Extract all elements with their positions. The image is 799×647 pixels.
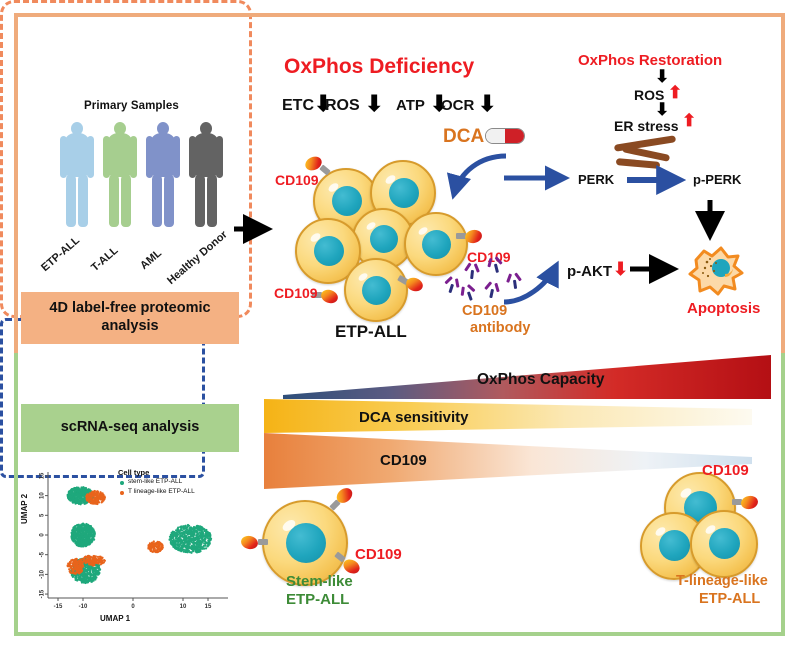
perk-label: PERK bbox=[578, 172, 614, 187]
arrow-dca-to-cells bbox=[440, 148, 570, 218]
svg-text:15: 15 bbox=[205, 604, 212, 610]
etpall-cell bbox=[344, 258, 408, 322]
p-perk-label: p-PERK bbox=[693, 172, 741, 187]
etpall-cell bbox=[404, 212, 468, 276]
scrna-analysis-box: scRNA-seq analysis bbox=[21, 404, 239, 452]
person-aml bbox=[146, 122, 180, 227]
arrow-perk-to-pperk bbox=[625, 173, 691, 187]
umap-x-axis-title: UMAP 1 bbox=[100, 614, 130, 623]
arrow-restoration-to-apoptosis bbox=[700, 198, 722, 246]
umap-legend-dot bbox=[120, 491, 124, 495]
umap-legend-dot bbox=[120, 481, 124, 485]
cd109-label: CD109 bbox=[274, 285, 318, 301]
er-stress-label: ER stress bbox=[614, 118, 679, 134]
marker-etc-label: ETC bbox=[282, 97, 314, 115]
svg-text:-15: -15 bbox=[54, 604, 63, 610]
arrow-antibody-to-pakt bbox=[500, 250, 570, 310]
arrow-samples-to-cells bbox=[232, 218, 278, 240]
svg-text:0: 0 bbox=[131, 604, 135, 610]
svg-text:5: 5 bbox=[40, 513, 46, 517]
oxphos-capacity-bar-label: OxPhos Capacity bbox=[477, 371, 605, 389]
arrow-down-to-erstress-icon: ⬇ bbox=[655, 101, 669, 118]
arrow-down-ros-icon: ⬇ bbox=[365, 93, 383, 115]
person-t-all bbox=[103, 122, 137, 227]
cd109-label: CD109 bbox=[355, 546, 402, 563]
umap-scatter-plot: -15-10-5051015-15-1001015 UMAP 2 UMAP 1 … bbox=[22, 462, 237, 632]
etpall-cluster-label: ETP-ALL bbox=[335, 322, 407, 342]
cd109-label: CD109 bbox=[702, 462, 749, 479]
svg-text:10: 10 bbox=[40, 492, 46, 499]
t-lineage-label: ETP-ALL bbox=[699, 591, 760, 607]
dca-sensitivity-bar-label: DCA sensitivity bbox=[359, 409, 468, 426]
dca-pill-icon bbox=[485, 128, 525, 144]
primary-samples-title: Primary Samples bbox=[84, 100, 179, 112]
arrow-up-erstress-icon: ⬆ bbox=[682, 112, 696, 129]
svg-text:-5: -5 bbox=[40, 551, 46, 557]
arrow-pakt-to-apoptosis bbox=[628, 258, 686, 280]
cd109-label: CD109 bbox=[275, 172, 319, 188]
oxphos-deficiency-title: OxPhos Deficiency bbox=[284, 55, 474, 79]
person-healthy-donor bbox=[189, 122, 223, 227]
svg-text:15: 15 bbox=[40, 472, 46, 479]
stem-like-label: ETP-ALL bbox=[286, 591, 349, 608]
umap-legend-label: T lineage-like ETP-ALL bbox=[128, 488, 195, 495]
umap-legend-label: stem-like ETP-ALL bbox=[128, 478, 182, 485]
umap-y-axis-title: UMAP 2 bbox=[20, 494, 29, 524]
graphical-abstract: Primary Samples ETP-ALL T-ALL AML Health… bbox=[0, 0, 799, 647]
apoptosis-label: Apoptosis bbox=[687, 300, 760, 317]
svg-text:-10: -10 bbox=[40, 569, 46, 578]
svg-text:-10: -10 bbox=[79, 604, 88, 610]
proteomic-analysis-box: 4D label-free proteomic analysis bbox=[21, 292, 239, 344]
svg-text:10: 10 bbox=[180, 604, 187, 610]
p-akt-label: p-AKT bbox=[567, 263, 612, 280]
t-lineage-label: T-lineage-like bbox=[676, 573, 768, 589]
cd109-level-bar-label: CD109 bbox=[380, 452, 427, 469]
cd109-antibody-label: antibody bbox=[470, 320, 530, 336]
dca-sensitivity-bar bbox=[264, 399, 752, 433]
arrow-up-ros-icon: ⬆ bbox=[668, 84, 682, 101]
marker-ros-label: ROS bbox=[325, 97, 360, 115]
svg-text:-15: -15 bbox=[40, 589, 46, 598]
umap-legend-title: Cell type bbox=[118, 468, 149, 477]
dca-label: DCA bbox=[443, 126, 484, 148]
stem-like-label: Stem-like bbox=[286, 573, 353, 590]
person-etp-all bbox=[60, 122, 94, 227]
arrow-down-ocr-icon: ⬇ bbox=[478, 93, 496, 115]
marker-atp-label: ATP bbox=[396, 97, 425, 114]
apoptotic-cell-icon bbox=[688, 244, 744, 296]
arrow-down-pakt-icon: ⬇ bbox=[613, 260, 628, 278]
oxphos-restoration-title: OxPhos Restoration bbox=[578, 52, 722, 69]
marker-ocr-label: OCR bbox=[441, 97, 474, 114]
svg-text:0: 0 bbox=[40, 533, 46, 537]
t-lineage-cell bbox=[690, 510, 758, 578]
antibody-icon bbox=[463, 261, 481, 280]
